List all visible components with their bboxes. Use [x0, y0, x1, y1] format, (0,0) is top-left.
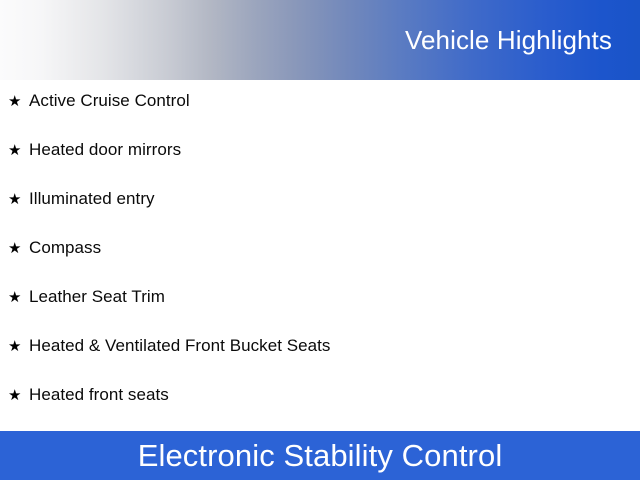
- feature-label: Heated door mirrors: [29, 141, 181, 158]
- star-bullet-icon: ★: [8, 388, 29, 403]
- star-bullet-icon: ★: [8, 241, 29, 256]
- feature-label: Active Cruise Control: [29, 92, 190, 109]
- star-bullet-icon: ★: [8, 143, 29, 158]
- vehicle-highlights-slide: Vehicle Highlights ★ Active Cruise Contr…: [0, 0, 640, 480]
- header-banner: Vehicle Highlights: [0, 0, 640, 80]
- list-item: ★ Compass: [0, 239, 640, 288]
- list-item: ★ Heated front seats: [0, 386, 640, 435]
- star-bullet-icon: ★: [8, 94, 29, 109]
- feature-label: Leather Seat Trim: [29, 288, 165, 305]
- list-item: ★ Heated door mirrors: [0, 141, 640, 190]
- star-bullet-icon: ★: [8, 290, 29, 305]
- footer-title: Electronic Stability Control: [138, 438, 503, 473]
- feature-label: Compass: [29, 239, 101, 256]
- list-item: ★ Illuminated entry: [0, 190, 640, 239]
- list-item: ★ Leather Seat Trim: [0, 288, 640, 337]
- page-title: Vehicle Highlights: [405, 25, 640, 55]
- feature-label: Heated front seats: [29, 386, 169, 403]
- vehicle-feature-list: ★ Active Cruise Control ★ Heated door mi…: [0, 92, 640, 435]
- feature-label: Illuminated entry: [29, 190, 155, 207]
- list-item: ★ Active Cruise Control: [0, 92, 640, 141]
- list-item: ★ Heated & Ventilated Front Bucket Seats: [0, 337, 640, 386]
- features-section: ★ Active Cruise Control ★ Heated door mi…: [0, 80, 640, 480]
- star-bullet-icon: ★: [8, 192, 29, 207]
- feature-label: Heated & Ventilated Front Bucket Seats: [29, 337, 330, 354]
- star-bullet-icon: ★: [8, 339, 29, 354]
- footer-banner: Electronic Stability Control: [0, 431, 640, 480]
